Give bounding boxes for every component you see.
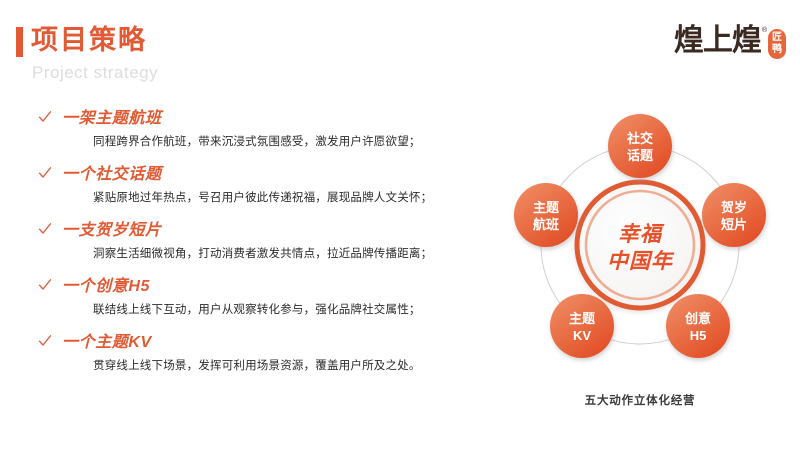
page-header: 项目策略 Project strategy 煌上煌 ® 匠 鸭 <box>0 0 800 100</box>
node-label-line2: KV <box>573 328 591 343</box>
logo-badge-top-char: 匠 <box>772 32 782 44</box>
check-icon <box>38 278 52 292</box>
strategy-title: 一支贺岁短片 <box>62 220 162 242</box>
center-label-line1: 幸福 <box>618 222 665 246</box>
page-title: 项目策略 <box>31 23 147 57</box>
node-label-line1: 创意 <box>684 311 711 326</box>
check-icon <box>38 334 52 348</box>
diagram-node-new-year-film[interactable]: 贺岁 短片 <box>702 183 766 247</box>
list-item: 一个主题KV 贯穿线上线下场景，发挥可利用场景资源，覆盖用户所及之处。 <box>0 332 470 375</box>
title-accent-bar <box>16 27 23 57</box>
strategy-title: 一个主题KV <box>62 332 152 354</box>
logo-badge-bottom-char: 鸭 <box>772 44 782 56</box>
strategy-list: 一架主题航班 同程跨界合作航班，带来沉浸式氛围感受，激发用户许愿欲望； 一个社交… <box>0 108 470 388</box>
logo-wordmark: 煌上煌 <box>674 24 761 58</box>
check-icon <box>38 166 52 180</box>
list-item: 一个创意H5 联结线上线下互动，用户从观察转化参与，强化品牌社交属性； <box>0 276 470 319</box>
diagram-node-theme-flight[interactable]: 主题 航班 <box>514 183 578 247</box>
strategy-title: 一个社交话题 <box>62 164 162 186</box>
node-label-line2: H5 <box>690 328 707 343</box>
check-icon <box>38 222 52 236</box>
node-label-line1: 贺岁 <box>720 200 747 215</box>
diagram-node-social-topic[interactable]: 社交 话题 <box>608 114 672 178</box>
brand-logo: 煌上煌 ® 匠 鸭 <box>674 24 786 59</box>
page-subtitle: Project strategy <box>32 62 158 84</box>
strategy-description: 贯穿线上线下场景，发挥可利用场景资源，覆盖用户所及之处。 <box>93 358 470 375</box>
node-label-line2: 话题 <box>627 148 654 163</box>
node-label-line2: 航班 <box>533 217 559 232</box>
diagram-node-theme-kv[interactable]: 主题 KV <box>550 294 614 358</box>
center-label-line2: 中国年 <box>607 249 675 273</box>
strategy-description: 同程跨界合作航班，带来沉浸式氛围感受，激发用户许愿欲望； <box>93 134 470 151</box>
list-item: 一个社交话题 紧贴原地过年热点，号召用户彼此传递祝福，展现品牌人文关怀； <box>0 164 470 207</box>
node-label-line1: 主题 <box>533 200 560 215</box>
strategy-description: 洞察生活细微视角，打动消费者激发共情点，拉近品牌传播距离； <box>93 246 470 263</box>
diagram-node-creative-h5[interactable]: 创意 H5 <box>666 294 730 358</box>
strategy-heading-row: 一个主题KV <box>0 332 470 354</box>
list-item: 一支贺岁短片 洞察生活细微视角，打动消费者激发共情点，拉近品牌传播距离； <box>0 220 470 263</box>
node-label-line2: 短片 <box>721 217 747 232</box>
strategy-heading-row: 一个社交话题 <box>0 164 470 186</box>
registered-trademark-icon: ® <box>762 26 767 35</box>
node-label-line1: 主题 <box>569 311 596 326</box>
strategy-description: 联结线上线下互动，用户从观察转化参与，强化品牌社交属性； <box>93 302 470 319</box>
logo-badge: 匠 鸭 <box>768 29 786 59</box>
strategy-heading-row: 一个创意H5 <box>0 276 470 298</box>
list-item: 一架主题航班 同程跨界合作航班，带来沉浸式氛围感受，激发用户许愿欲望； <box>0 108 470 151</box>
strategy-title: 一个创意H5 <box>62 276 150 298</box>
strategy-title: 一架主题航班 <box>62 108 162 130</box>
strategy-heading-row: 一架主题航班 <box>0 108 470 130</box>
strategy-heading-row: 一支贺岁短片 <box>0 220 470 242</box>
strategy-description: 紧贴原地过年热点，号召用户彼此传递祝福，展现品牌人文关怀； <box>93 190 470 207</box>
diagram-caption: 五大动作立体化经营 <box>495 392 785 408</box>
strategy-circle-diagram: 幸福 中国年 社交 话题 贺岁 短片 创意 H5 主题 KV 主 <box>495 100 785 400</box>
check-icon <box>38 110 52 124</box>
node-label-line1: 社交 <box>626 131 653 146</box>
